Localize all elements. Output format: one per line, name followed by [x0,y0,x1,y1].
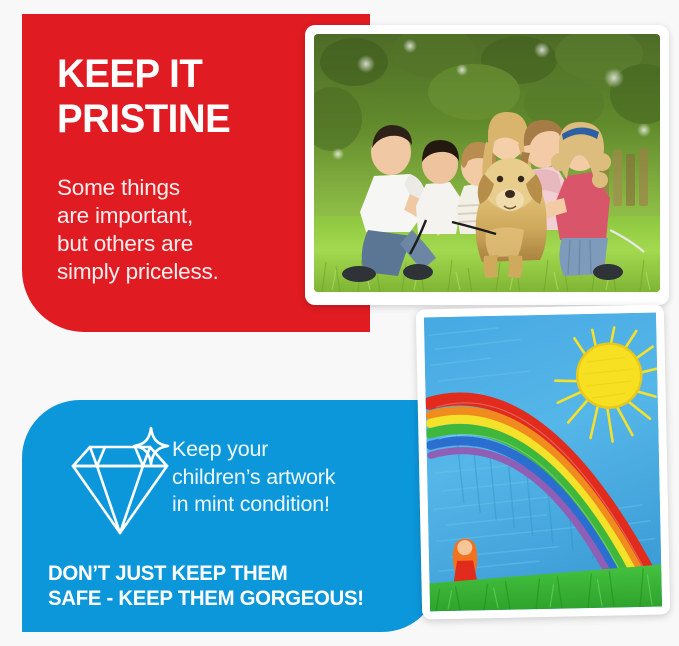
blue-tagline-line-3: in mint condition! [172,491,440,519]
red-body-text: Some things are important, but others ar… [57,174,317,286]
blue-panel: Keep your children’s artwork in mint con… [22,400,440,632]
red-body-line-1: Some things [57,174,317,202]
blue-cta-line-1: DON’T JUST KEEP THEM [48,562,426,587]
red-body-line-3: but others are [57,230,317,258]
red-headline: KEEP IT PRISTINE [57,52,297,142]
artwork-card [416,304,670,619]
blue-cta-text: DON’T JUST KEEP THEM SAFE - KEEP THEM GO… [48,562,426,611]
diamond-sparkle-icon [67,422,185,540]
blue-tagline-line-2: children’s artwork [172,464,440,492]
red-headline-line-2: PRISTINE [57,97,297,142]
red-headline-line-1: KEEP IT [57,52,297,97]
blue-cta-line-2: SAFE - KEEP THEM GORGEOUS! [48,587,426,612]
blue-tagline: Keep your children’s artwork in mint con… [172,436,440,519]
poster-canvas: KEEP IT PRISTINE Some things are importa… [0,0,679,646]
blue-tagline-line-1: Keep your [172,436,440,464]
artwork-image [424,313,662,612]
family-photo-image [314,34,660,292]
family-photo-card [305,25,669,305]
red-body-line-2: are important, [57,202,317,230]
red-body-line-4: simply priceless. [57,258,317,286]
